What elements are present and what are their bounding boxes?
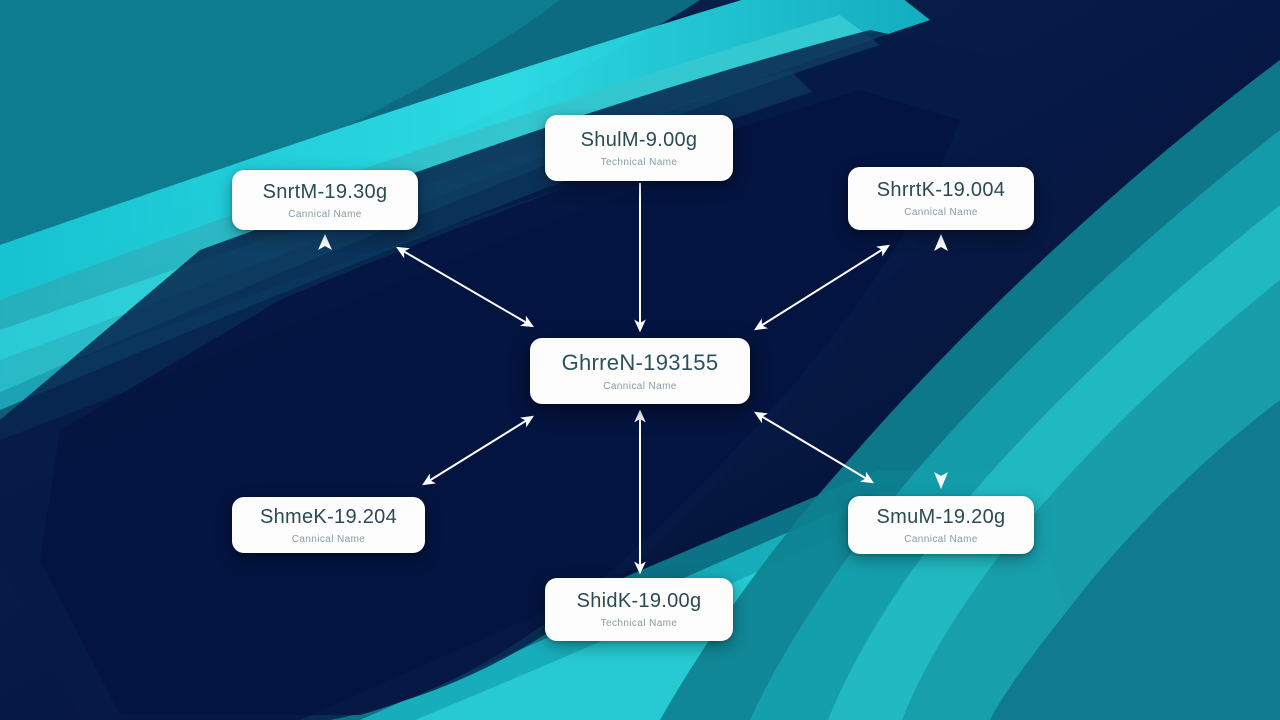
node-title: SnrtM-19.30g (263, 181, 388, 204)
node-title: ShrrtK-19.004 (877, 179, 1005, 202)
node-title: ShmeK-19.204 (260, 506, 397, 529)
node-title: ShulM-9.00g (581, 129, 698, 152)
node-card-top-left[interactable]: SnrtM-19.30g Cannical Name (232, 170, 418, 230)
node-title: GhrreN-193155 (562, 350, 719, 375)
node-subtitle: Cannical Name (292, 534, 366, 545)
node-card-top[interactable]: ShulM-9.00g Technical Name (545, 115, 733, 181)
node-subtitle: Cannical Name (904, 207, 978, 218)
node-subtitle: Technical Name (601, 618, 678, 629)
node-card-top-right[interactable]: ShrrtK-19.004 Cannical Name (848, 167, 1034, 230)
node-title: SmuM-19.20g (877, 506, 1006, 529)
node-subtitle: Technical Name (601, 157, 678, 168)
node-card-bottom[interactable]: ShidK-19.00g Technical Name (545, 578, 733, 641)
node-card-bottom-right[interactable]: SmuM-19.20g Cannical Name (848, 496, 1034, 554)
node-subtitle: Cannical Name (288, 209, 362, 220)
diagram-canvas: ShulM-9.00g Technical Name SnrtM-19.30g … (0, 0, 1280, 720)
node-subtitle: Cannical Name (904, 534, 978, 545)
node-subtitle: Cannical Name (603, 381, 677, 392)
node-card-center[interactable]: GhrreN-193155 Cannical Name (530, 338, 750, 404)
node-card-bottom-left[interactable]: ShmeK-19.204 Cannical Name (232, 497, 425, 553)
node-title: ShidK-19.00g (577, 590, 702, 613)
